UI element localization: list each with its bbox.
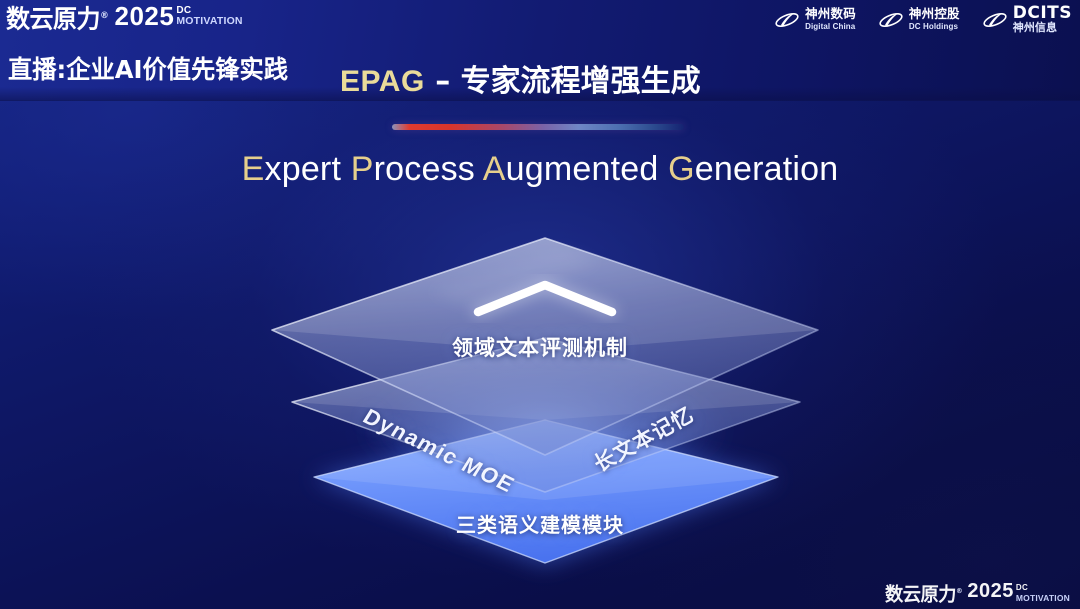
brand-logo: 数云原力® 2025 DC MOTIVATION xyxy=(6,2,243,33)
brand-logo-cn: 数云原力® xyxy=(6,2,108,33)
title-divider xyxy=(392,124,684,130)
slide-canvas: 数云原力® 2025 DC MOTIVATION 直播:企业AI价值先锋实践 神… xyxy=(0,0,1080,609)
page-title: EPAG – 专家流程增强生成 xyxy=(340,56,701,100)
partner-logo-digital-china: 神州数码 Digital China xyxy=(774,8,856,32)
subtitle-cap-g: G xyxy=(668,150,695,188)
registered-mark: ® xyxy=(100,11,108,21)
layer-label-bottom: 三类语义建模模块 xyxy=(0,509,1080,538)
partner-label: 神州数码 Digital China xyxy=(805,8,856,31)
partner-logo-dc-holdings: 神州控股 DC Holdings xyxy=(878,8,960,32)
page-subtitle: Expert Process Augmented Generation xyxy=(0,150,1080,189)
subtitle-cap-p: P xyxy=(351,150,374,188)
partner-name-cn: 神州数码 xyxy=(805,8,856,21)
subtitle-rest-augmented: ugmented xyxy=(506,150,668,188)
watermark-cn: 数云原力® xyxy=(885,580,962,605)
page-title-abbrev: EPAG xyxy=(340,65,425,98)
watermark-motivation-text: MOTIVATION xyxy=(1016,593,1070,603)
partner-logo-dcits: DCITS 神州信息 xyxy=(982,5,1072,34)
brand-logo-dc-motivation: DC MOTIVATION xyxy=(176,2,242,26)
partner-name-cn: DCITS xyxy=(1013,5,1072,22)
subtitle-rest-generation: eneration xyxy=(695,150,839,188)
subtitle-cap-a: A xyxy=(483,150,506,188)
partner-label: 神州控股 DC Holdings xyxy=(909,8,960,31)
partner-name-cn: 神州控股 xyxy=(909,8,960,21)
watermark-logo: 数云原力® 2025 DC MOTIVATION xyxy=(885,580,1070,605)
swirl-icon xyxy=(774,8,800,32)
partner-label: DCITS 神州信息 xyxy=(1013,5,1072,34)
partner-name-en: DC Holdings xyxy=(909,23,960,31)
swirl-icon xyxy=(982,8,1008,32)
watermark-registered-mark: ® xyxy=(956,587,962,595)
brand-logo-year: 2025 xyxy=(115,2,175,30)
brand-motivation-text: MOTIVATION xyxy=(176,16,242,26)
subtitle-cap-e: E xyxy=(242,150,265,188)
subtitle-rest-expert: xpert xyxy=(265,150,351,188)
watermark-year: 2025 xyxy=(967,580,1014,602)
layer-label-top: 领域文本评测机制 xyxy=(0,332,1080,362)
layer-label-middle-left: Dynamic MOE xyxy=(358,404,520,498)
live-stream-subtitle: 直播:企业AI价值先锋实践 xyxy=(8,50,288,86)
watermark-dc-motivation: DC MOTIVATION xyxy=(1016,580,1070,603)
subtitle-rest-process: rocess xyxy=(374,150,483,188)
partner-name-en: 神州信息 xyxy=(1013,23,1072,34)
page-title-cn: – 专家流程增强生成 xyxy=(425,64,701,99)
partner-logos: 神州数码 Digital China 神州控股 DC Holdings xyxy=(774,5,1072,34)
layer-label-middle-right: 长文本记忆 xyxy=(588,399,699,479)
partner-name-en: Digital China xyxy=(805,23,856,31)
chevron-up-icon xyxy=(478,285,612,312)
stack-layer-bottom xyxy=(312,418,780,566)
watermark-dc-text: DC xyxy=(1016,583,1070,593)
swirl-icon xyxy=(878,8,904,32)
